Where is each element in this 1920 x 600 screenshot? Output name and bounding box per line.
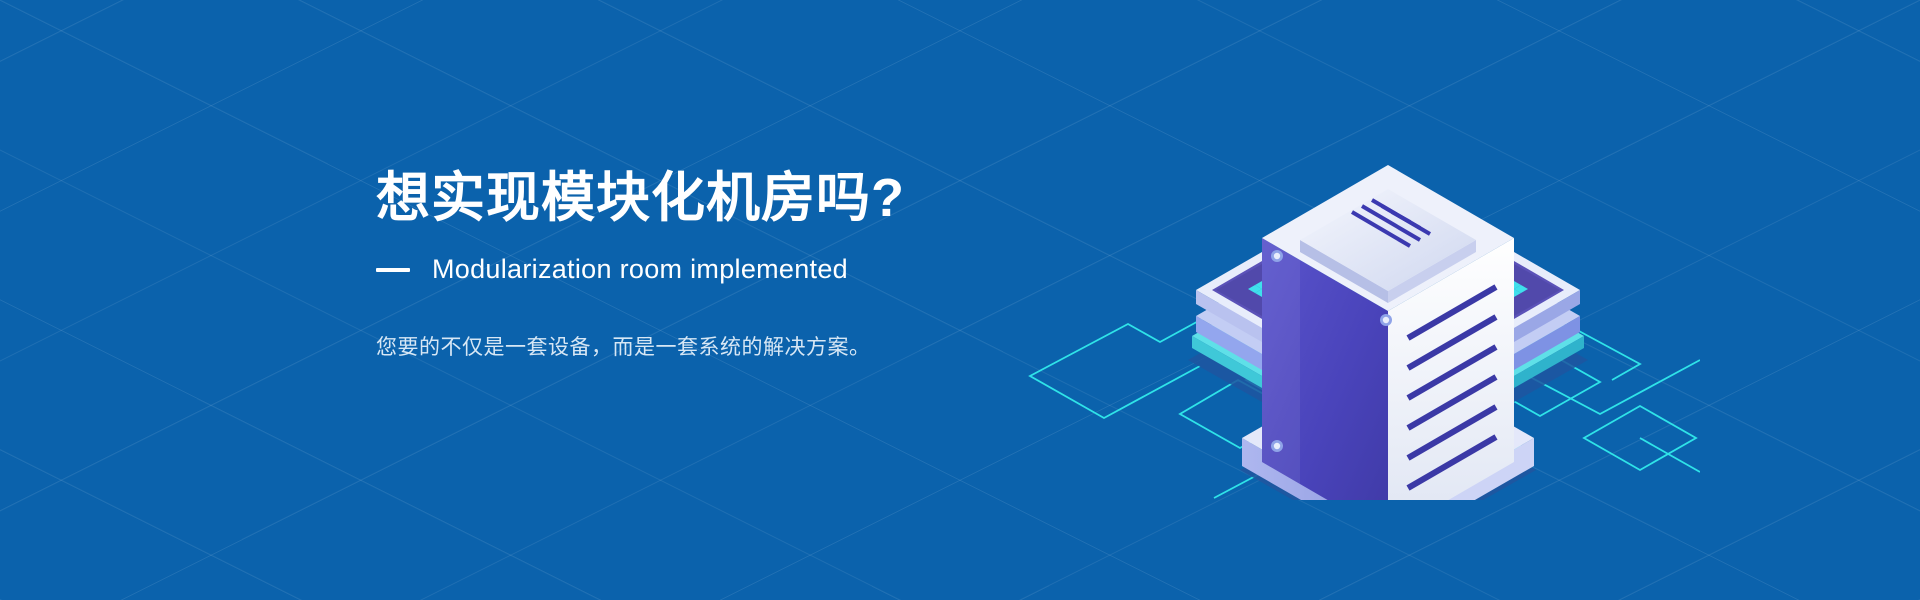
isometric-server-illustration [1000, 80, 1700, 500]
page-subtitle: Modularization room implemented [432, 254, 848, 285]
hero-banner: 想实现模块化机房吗? Modularization room implement… [0, 0, 1920, 600]
dash-accent-icon [376, 268, 410, 272]
server-tower [1240, 165, 1536, 500]
